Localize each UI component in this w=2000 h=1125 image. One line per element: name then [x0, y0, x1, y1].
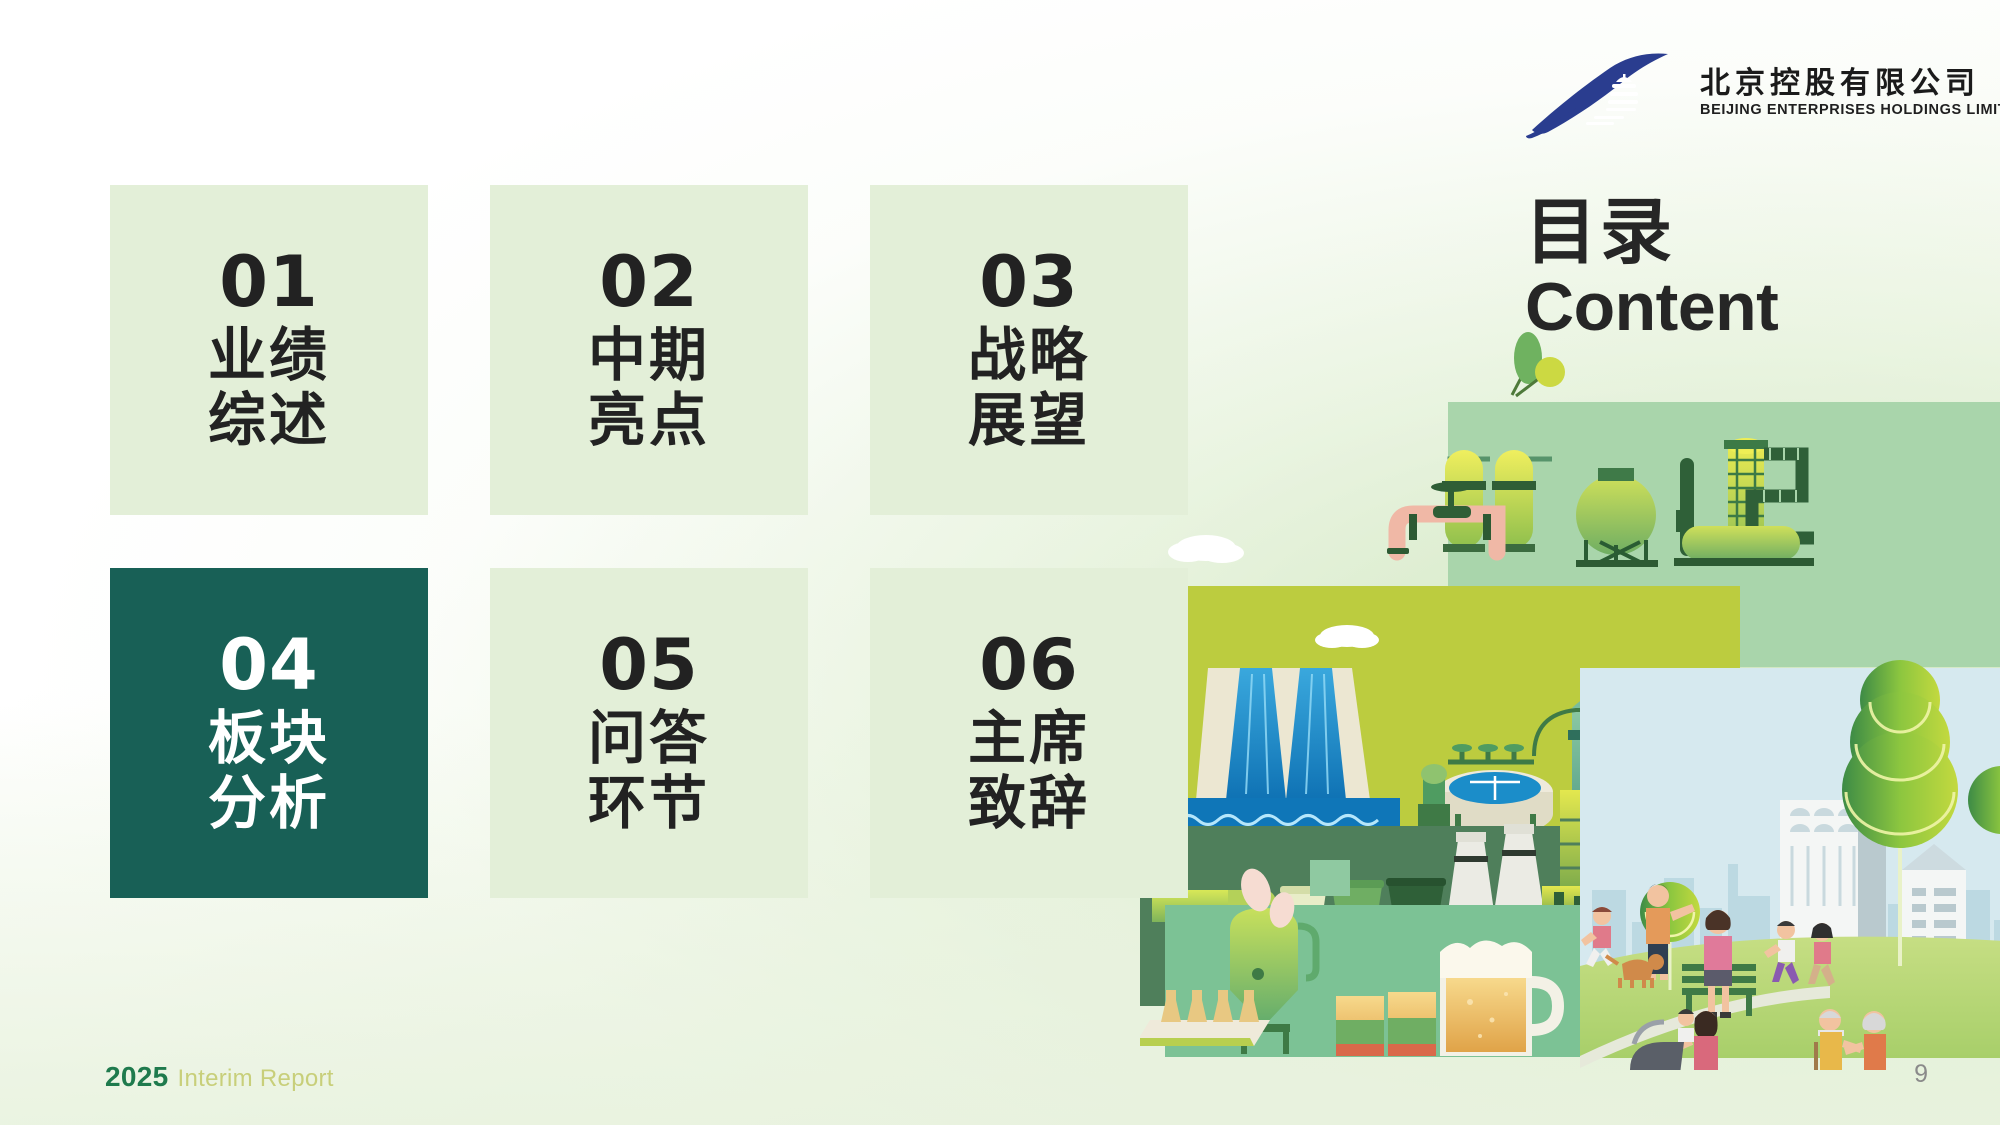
agenda-tile-line1: 问答 [588, 706, 710, 771]
agenda-tile-line1: 主席 [968, 706, 1090, 771]
cloud-small-left [1168, 535, 1244, 563]
agenda-tile-number: 04 [219, 630, 318, 700]
agenda-tile-01[interactable]: 01 业绩 综述 [110, 185, 428, 515]
logo-company-name-en: BEIJING ENTERPRISES HOLDINGS LIMITED [1700, 102, 2000, 118]
business-segments-illustration [1140, 330, 2000, 1070]
page-title-en: Content [1525, 271, 1778, 344]
slide-canvas: 北京控股有限公司 BEIJING ENTERPRISES HOLDINGS LI… [0, 0, 2000, 1125]
page-title: 目录 Content [1525, 196, 1778, 345]
agenda-tile-number: 06 [979, 630, 1078, 700]
footer-year: 2025 [105, 1061, 169, 1093]
agenda-tile-03[interactable]: 03 战略 展望 [870, 185, 1188, 515]
agenda-tile-line2: 综述 [208, 388, 330, 453]
company-logo: 北京控股有限公司 BEIJING ENTERPRISES HOLDINGS LI… [1524, 48, 1944, 144]
agenda-tile-line1: 中期 [588, 323, 710, 388]
page-title-cn: 目录 [1525, 196, 1778, 269]
agenda-tile-number: 05 [599, 630, 698, 700]
city-park-panel [1580, 660, 2000, 1070]
agenda-tile-number: 02 [599, 247, 698, 317]
beijing-enterprises-wing-logo [1524, 48, 1694, 140]
agenda-tile-line1: 战略 [968, 323, 1090, 388]
agenda-tile-04[interactable]: 04 板块 分析 [110, 568, 428, 898]
agenda-tile-number: 01 [219, 247, 318, 317]
agenda-tile-line2: 亮点 [588, 388, 710, 453]
agenda-tile-line1: 业绩 [208, 323, 330, 388]
footer-report-label: Interim Report [178, 1065, 334, 1093]
agenda-tile-02[interactable]: 02 中期 亮点 [490, 185, 808, 515]
agenda-tile-line2: 环节 [588, 771, 710, 836]
agenda-tile-line2: 分析 [208, 771, 330, 836]
logo-company-name-cn: 北京控股有限公司 [1700, 58, 1980, 102]
agenda-tile-06[interactable]: 06 主席 致辞 [870, 568, 1188, 898]
page-number: 9 [1914, 1060, 1928, 1089]
agenda-tile-line2: 致辞 [968, 771, 1090, 836]
agenda-tile-line1: 板块 [208, 706, 330, 771]
footer-brand: 2025 Interim Report [105, 1061, 334, 1093]
agenda-tile-05[interactable]: 05 问答 环节 [490, 568, 808, 898]
agenda-tile-number: 03 [979, 247, 1078, 317]
agenda-tile-line2: 展望 [968, 388, 1090, 453]
